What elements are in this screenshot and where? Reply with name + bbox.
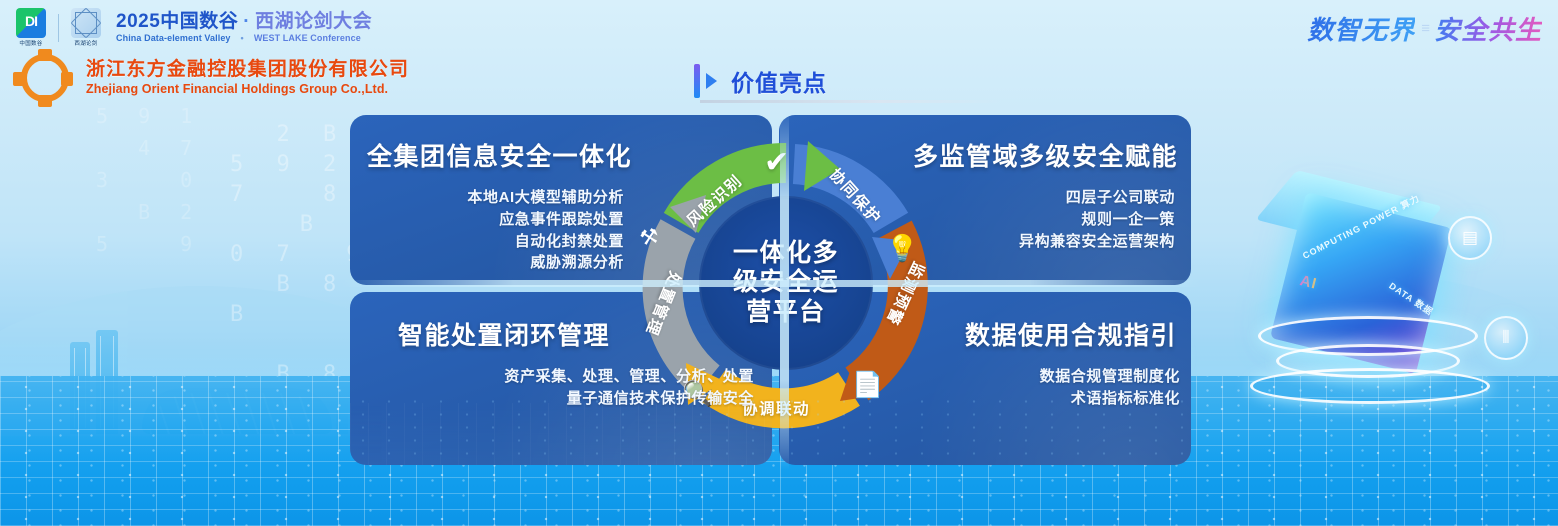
slogan-part-a: 数智无界 — [1307, 10, 1415, 47]
conference-subtitle-sep: • — [241, 33, 244, 43]
event-slogan: 数智无界 ≡ 安全共生 — [1307, 10, 1542, 47]
card-bullet: 自动化封禁处置 — [350, 231, 624, 253]
conference-title-year: 2025 — [116, 11, 160, 32]
section-underline — [700, 100, 1002, 103]
company-name-en: Zhejiang Orient Financial Holdings Group… — [86, 82, 409, 96]
card-title: 数据使用合规指引 — [965, 316, 1191, 352]
card-bullet-list: 四层子公司联动 规则一企一策 异构兼容安全运营架构 — [779, 187, 1175, 252]
monitor-chart-icon: ▤ — [1448, 216, 1492, 260]
card-bullet: 规则一企一策 — [779, 209, 1175, 231]
sliders-icon: ⫴ — [1484, 316, 1528, 360]
cube-face-data: DATA 数据 — [1387, 279, 1436, 318]
card-bullet: 四层子公司联动 — [779, 187, 1175, 209]
card-bullet: 资产采集、处理、管理、分析、处置 — [350, 366, 754, 388]
data-cube-illustration: COMPUTING POWER 算力 AI DATA 数据 ▤ ⫴ ☁ — [1208, 176, 1528, 466]
card-bullet-list: 数据合规管理制度化 术语指标标准化 — [779, 366, 1180, 410]
card-bullet: 威胁溯源分析 — [350, 252, 624, 274]
card-bullet: 数据合规管理制度化 — [779, 366, 1180, 388]
card-title: 多监管域多级安全赋能 — [913, 137, 1191, 173]
page-title: 价值亮点 — [731, 64, 827, 98]
slogan-part-b: 安全共生 — [1434, 10, 1542, 47]
play-triangle-icon — [706, 73, 717, 89]
cube-face-ai: AI — [1298, 272, 1319, 293]
card-bullet: 术语指标标准化 — [779, 388, 1180, 410]
conference-title-dot: · — [243, 11, 250, 32]
logo-divider — [58, 14, 59, 42]
decorative-horizontal-line — [342, 280, 1202, 287]
card-bullet: 应急事件跟踪处置 — [350, 209, 624, 231]
west-lake-logo-icon — [71, 8, 101, 38]
conference-subtitle: China Data-element Valley•WEST LAKE Conf… — [116, 33, 372, 43]
card-bullet-list: 资产采集、处理、管理、分析、处置 量子通信技术保护传输安全 — [350, 366, 754, 410]
company-name-cn: 浙江东方金融控股集团股份有限公司 — [86, 60, 409, 81]
conference-title: 2025中国数谷·西湖论剑大会 — [116, 12, 372, 32]
conference-subtitle-a: China Data-element Valley — [116, 33, 231, 43]
section-header: 价值亮点 — [694, 64, 1004, 98]
company-logo-icon — [14, 52, 76, 104]
card-title: 智能处置闭环管理 — [398, 316, 772, 352]
china-data-valley-logo-caption: 中国数谷 — [16, 39, 46, 47]
conference-title-cn-a: 中国数谷 — [160, 11, 238, 32]
company-branding: 浙江东方金融控股集团股份有限公司 Zhejiang Orient Financi… — [14, 52, 409, 104]
slogan-divider: ≡ — [1421, 20, 1428, 37]
card-bottom-left[interactable]: 智能处置闭环管理 资产采集、处理、管理、分析、处置 量子通信技术保护传输安全 — [350, 292, 772, 465]
card-bullet: 量子通信技术保护传输安全 — [350, 388, 754, 410]
conference-title-cn-b: 西湖论剑大会 — [255, 11, 372, 32]
cube-face-computing-power: COMPUTING POWER 算力 — [1300, 191, 1422, 262]
card-title: 全集团信息安全一体化 — [367, 137, 772, 173]
card-bullet: 本地AI大模型辅助分析 — [350, 187, 624, 209]
conference-subtitle-b: WEST LAKE Conference — [254, 33, 361, 43]
card-bullet-list: 本地AI大模型辅助分析 应急事件跟踪处置 自动化封禁处置 威胁溯源分析 — [350, 187, 624, 274]
section-accent-bar — [694, 64, 700, 98]
west-lake-logo-caption: 西湖论剑 — [71, 39, 101, 47]
china-data-valley-logo-icon: DI — [16, 8, 46, 38]
background-numbers-secondary: 5 9 1 4 7 3 0 B 2 5 9 — [96, 100, 246, 300]
conference-branding: DI 中国数谷 西湖论剑 2025中国数谷·西湖论剑大会 China Data-… — [16, 8, 372, 47]
card-bullet: 异构兼容安全运营架构 — [779, 231, 1175, 253]
